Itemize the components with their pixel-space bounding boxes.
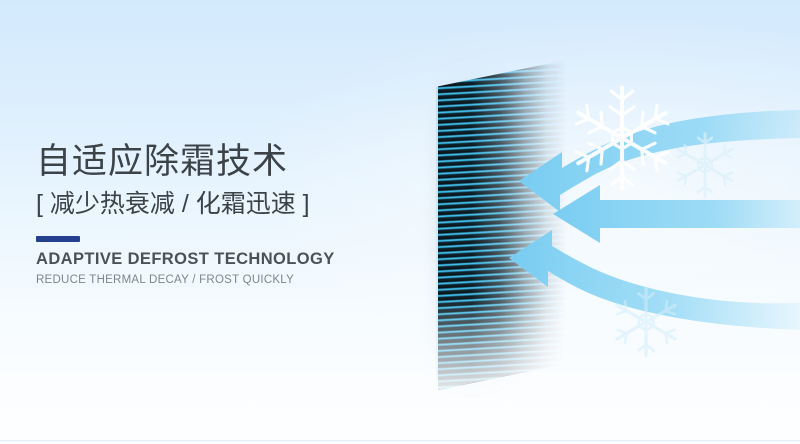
text-block: 自适应除霜技术 [ 减少热衰减 / 化霜迅速 ] ADAPTIVE DEFROS… [36,140,376,288]
snowflake-medium [666,126,744,204]
english-title: ADAPTIVE DEFROST TECHNOLOGY [36,249,376,269]
subtitle: [ 减少热衰减 / 化霜迅速 ] [36,186,376,222]
heat-exchanger-fin-panel [438,60,566,390]
bottom-hairline [0,440,800,441]
page-title: 自适应除霜技术 [36,140,376,184]
snowflake-large [562,78,682,198]
snowflake-small [604,280,688,364]
adaptive-defrost-banner: 自适应除霜技术 [ 减少热衰减 / 化霜迅速 ] ADAPTIVE DEFROS… [0,0,800,444]
accent-bar [36,236,80,242]
english-subtitle: REDUCE THERMAL DECAY / FROST QUICKLY [36,272,376,288]
